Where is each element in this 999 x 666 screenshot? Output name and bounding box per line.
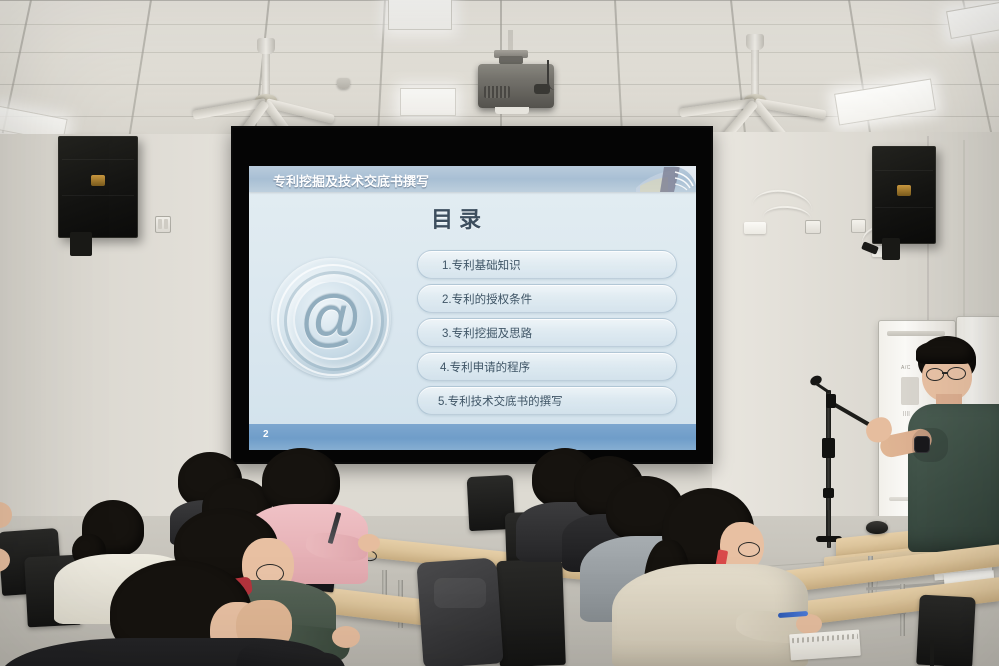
agenda-item-2-label: 2.专利的授权条件 <box>442 291 532 307</box>
smoke-detector <box>337 78 350 89</box>
student-far-left-edge <box>0 492 42 612</box>
presenter-glasses-left-lens <box>926 368 944 381</box>
student-front-left <box>70 560 330 666</box>
agenda-item-2[interactable]: 2.专利的授权条件 <box>417 284 677 313</box>
agenda-item-1-label: 1.专利基础知识 <box>442 257 521 273</box>
wall-speaker-right <box>872 146 936 244</box>
speaker-badge-right <box>897 185 911 196</box>
wall-switch-plate[interactable] <box>155 216 171 233</box>
chair-right[interactable] <box>496 559 566 666</box>
student-ponytail-right <box>628 488 808 666</box>
slide-header-band: 专利挖掘及技术交底书撰写 <box>249 166 696 192</box>
classroom-photo: A/C |||| 专利挖掘 <box>0 0 999 666</box>
agenda-item-3[interactable]: 3.专利挖掘及思路 <box>417 318 677 347</box>
agenda-item-5[interactable]: 5.专利技术交底书的撰写 <box>417 386 677 415</box>
slide-decor-swoosh <box>634 166 696 192</box>
student-glasses <box>738 542 760 557</box>
backpack[interactable] <box>416 557 503 666</box>
ceiling-light-center-lower <box>400 88 456 116</box>
slide-footer-band: 2 <box>249 424 696 450</box>
presenter-glasses-right-lens <box>947 367 966 380</box>
ceiling-light-right-lower <box>834 79 936 126</box>
projection-screen: 专利挖掘及技术交底书撰写 目录 @ 1.专利基础知识 2.专利的授权条件 3.专… <box>231 126 713 464</box>
presenter-shirt <box>908 404 999 552</box>
at-symbol-graphic: @ <box>271 258 391 378</box>
speaker-badge-left <box>91 175 105 186</box>
ceiling-light-right-upper <box>946 1 999 39</box>
presentation-slide: 专利挖掘及技术交底书撰写 目录 @ 1.专利基础知识 2.专利的授权条件 3.专… <box>249 166 696 450</box>
chair-right-far[interactable] <box>916 595 976 666</box>
at-glyph: @ <box>271 258 391 378</box>
agenda-item-1[interactable]: 1.专利基础知识 <box>417 250 677 279</box>
agenda-item-5-label: 5.专利技术交底书的撰写 <box>438 393 563 409</box>
ceiling <box>0 0 999 136</box>
agenda-item-3-label: 3.专利挖掘及思路 <box>442 325 532 341</box>
slide-header-title: 专利挖掘及技术交底书撰写 <box>273 171 429 190</box>
wall-outlet-right[interactable] <box>851 219 866 233</box>
ceiling-light-center <box>388 0 452 30</box>
wall-speaker-left <box>58 136 138 238</box>
slide-page-number: 2 <box>263 429 269 440</box>
computer-mouse[interactable] <box>866 521 888 534</box>
presenter <box>890 336 999 566</box>
ceiling-fan-right <box>680 38 830 112</box>
ceiling-light-left <box>0 105 68 136</box>
slide-title: 目录 <box>431 202 487 234</box>
ceiling-fan-left <box>196 42 336 112</box>
agenda-item-4[interactable]: 4.专利申请的程序 <box>417 352 677 381</box>
agenda-item-4-label: 4.专利申请的程序 <box>440 359 530 375</box>
